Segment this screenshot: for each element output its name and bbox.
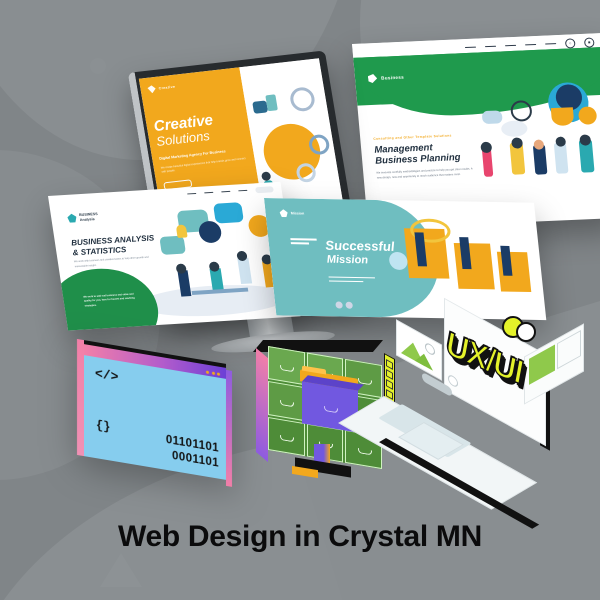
- card-title-line2: Business Planning: [375, 152, 461, 167]
- cabinet-drawer[interactable]: [268, 417, 305, 456]
- nav-item[interactable]: [187, 193, 196, 195]
- search-icon[interactable]: ○: [565, 38, 576, 48]
- brand-label: Mission: [291, 211, 305, 215]
- image-thumbnail-panel[interactable]: [396, 319, 442, 380]
- pagination-dots[interactable]: [335, 301, 353, 308]
- nav-item[interactable]: [221, 191, 230, 193]
- nav-item[interactable]: [525, 44, 536, 46]
- nav-item[interactable]: [238, 190, 247, 192]
- brand-mark-icon: [279, 209, 288, 217]
- green-card-illustration: [468, 75, 600, 220]
- circle-icon[interactable]: [386, 379, 393, 390]
- teal-card-brand: Mission: [279, 209, 304, 217]
- brand-label: Creative: [158, 85, 175, 91]
- ux-ui-laptop-illustration[interactable]: UX/UI: [388, 318, 588, 490]
- filing-cabinet-illustration[interactable]: [255, 340, 385, 470]
- circle-shape: [197, 220, 222, 243]
- window-dot[interactable]: [217, 372, 220, 376]
- successful-mission-card[interactable]: Mission Successful Mission: [264, 198, 546, 320]
- person-figure: [237, 258, 252, 284]
- poster-canvas: ○ ■ Business Consulting and Other Templa…: [0, 0, 600, 600]
- gear-icon: [516, 322, 536, 342]
- background-circle-small: [90, 58, 106, 74]
- brand-label: BUSINESS Analysis: [79, 212, 99, 222]
- green-circle-panel: We work to add real business and value a…: [48, 266, 164, 331]
- chart-block: [265, 95, 278, 112]
- nav-item[interactable]: [485, 45, 496, 47]
- wireframe-block: [529, 344, 555, 384]
- rule-line: [291, 242, 309, 244]
- monitor-headline: Creative Solutions: [153, 109, 245, 148]
- eyebrow-text: Consulting and Other Template Solutions: [373, 133, 470, 141]
- window-right-edge: [226, 370, 232, 487]
- menu-icon[interactable]: ■: [584, 37, 595, 47]
- brand-mark-icon: [147, 85, 156, 94]
- white-card-brand: BUSINESS Analysis: [67, 212, 99, 223]
- search-input[interactable]: [255, 186, 274, 193]
- nav-item[interactable]: [204, 192, 213, 194]
- binary-text: 01101101 0001101: [166, 433, 219, 471]
- nav-item[interactable]: [465, 46, 476, 48]
- cabinet-drawer[interactable]: [268, 381, 305, 420]
- card-title: Management Business Planning: [374, 141, 472, 167]
- gear-icon: [288, 86, 316, 112]
- cabinet-side-face: [256, 348, 268, 462]
- drawer-handle[interactable]: [324, 406, 338, 413]
- chart-block: [252, 100, 268, 113]
- speech-bubble: [159, 236, 186, 255]
- teal-card-illustration: [399, 218, 539, 310]
- monitor-brand: Creative: [147, 76, 235, 94]
- card-title-line2: Mission: [326, 253, 396, 266]
- square-icon[interactable]: [386, 369, 393, 380]
- card-body-text: We innovate carefully methodologies and …: [376, 168, 473, 182]
- code-brace-icon: {}: [96, 418, 110, 434]
- card-title: BUSINESS ANALYSIS & STATISTICS: [71, 233, 160, 258]
- nav-item[interactable]: [505, 45, 516, 47]
- brand-mark-icon: [67, 213, 77, 222]
- brand-line2: Analysis: [80, 217, 95, 222]
- speech-bubble: [213, 202, 244, 223]
- card-title: Successful Mission: [325, 239, 397, 267]
- code-browser-window[interactable]: </> {} 01101101 0001101: [84, 340, 226, 480]
- background-triangle: [100, 553, 142, 587]
- page-title: Web Design in Crystal MN: [0, 520, 600, 554]
- card-title-line2: & STATISTICS: [72, 245, 127, 257]
- pencil-icon[interactable]: [386, 359, 393, 370]
- window-dot[interactable]: [212, 371, 215, 375]
- green-note-text: We work to add real business and value a…: [83, 292, 137, 308]
- person-figure: [178, 271, 192, 297]
- card-title-line1: Successful: [325, 239, 396, 255]
- brand-label: Business: [381, 75, 404, 81]
- window-left-edge: [77, 339, 84, 456]
- brand-arrow-icon: [368, 74, 378, 83]
- wireframe-grid-cell: [557, 330, 581, 369]
- nav-item[interactable]: [545, 43, 556, 45]
- code-tag-icon: </>: [95, 366, 118, 385]
- window-dot[interactable]: [206, 371, 209, 375]
- green-card-brand: Business: [368, 73, 405, 84]
- table-surface: [191, 288, 248, 295]
- green-card-copy: Consulting and Other Template Solutions …: [373, 133, 473, 182]
- business-analysis-statistics-card[interactable]: BUSINESS Analysis BUSINESS ANALYSIS & ST…: [48, 182, 301, 331]
- person-figure: [500, 246, 512, 276]
